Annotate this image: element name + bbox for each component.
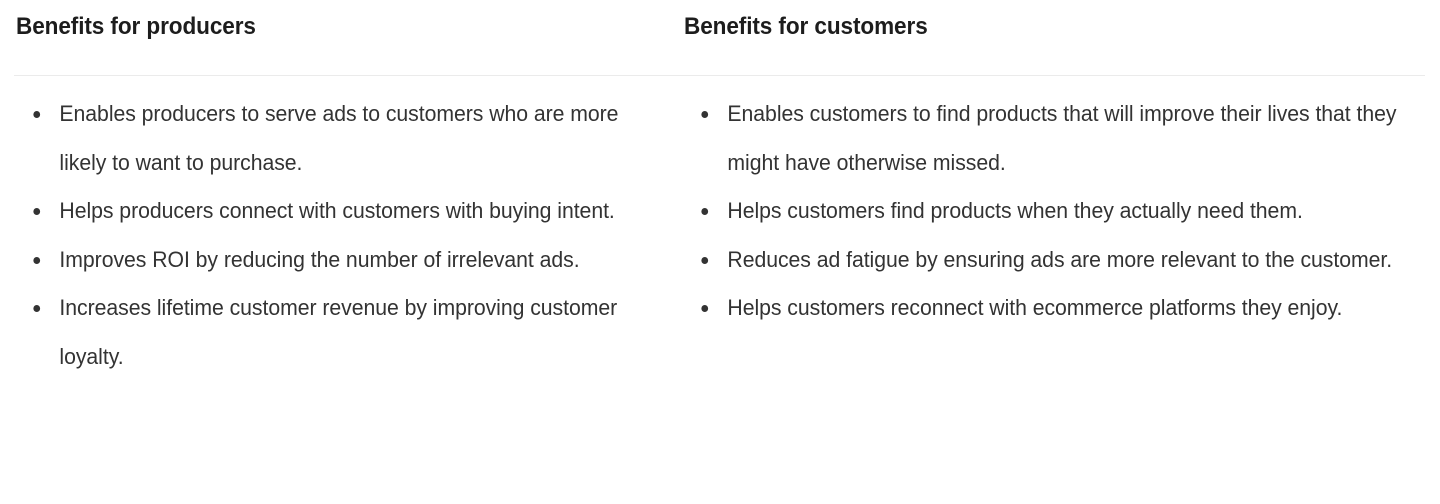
header-divider-line <box>14 75 1425 76</box>
benefits-comparison-table: Benefits for producers Benefits for cust… <box>0 0 1440 504</box>
list-item: Helps customers find products when they … <box>684 187 1414 236</box>
bullet-dot-icon <box>33 305 40 312</box>
list-item: Reduces ad fatigue by ensuring ads are m… <box>684 236 1414 285</box>
list-item: Improves ROI by reducing the number of i… <box>16 236 638 285</box>
column-header-customers: Benefits for customers <box>668 0 1440 42</box>
column-body-customers: Enables customers to find products that … <box>668 90 1440 333</box>
column-header-producers: Benefits for producers <box>0 0 668 42</box>
bullet-dot-icon <box>701 111 708 118</box>
column-heading-producers: Benefits for producers <box>16 12 629 42</box>
bullet-dot-icon <box>701 208 708 215</box>
bullet-dot-icon <box>33 208 40 215</box>
column-heading-customers: Benefits for customers <box>684 12 1395 42</box>
list-item-text: Increases lifetime customer revenue by i… <box>59 295 617 369</box>
list-item-text: Improves ROI by reducing the number of i… <box>59 247 579 272</box>
table-header-row: Benefits for producers Benefits for cust… <box>0 0 1440 76</box>
benefits-list-customers: Enables customers to find products that … <box>684 90 1440 333</box>
list-item: Helps producers connect with customers w… <box>16 187 638 236</box>
benefits-list-producers: Enables producers to serve ads to custom… <box>16 90 668 381</box>
bullet-dot-icon <box>701 257 708 264</box>
column-body-producers: Enables producers to serve ads to custom… <box>0 90 668 381</box>
list-item: Helps customers reconnect with ecommerce… <box>684 284 1414 333</box>
list-item: Enables producers to serve ads to custom… <box>16 90 638 187</box>
list-item-text: Helps customers find products when they … <box>727 198 1302 223</box>
table-body-row: Enables producers to serve ads to custom… <box>0 90 1440 381</box>
list-item-text: Helps customers reconnect with ecommerce… <box>727 295 1342 320</box>
bullet-dot-icon <box>33 111 40 118</box>
list-item-text: Enables customers to find products that … <box>727 101 1396 175</box>
list-item-text: Enables producers to serve ads to custom… <box>59 101 618 175</box>
list-item-text: Reduces ad fatigue by ensuring ads are m… <box>727 247 1392 272</box>
list-item-text: Helps producers connect with customers w… <box>59 198 614 223</box>
list-item: Increases lifetime customer revenue by i… <box>16 284 638 381</box>
bullet-dot-icon <box>701 305 708 312</box>
bullet-dot-icon <box>33 257 40 264</box>
list-item: Enables customers to find products that … <box>684 90 1414 187</box>
